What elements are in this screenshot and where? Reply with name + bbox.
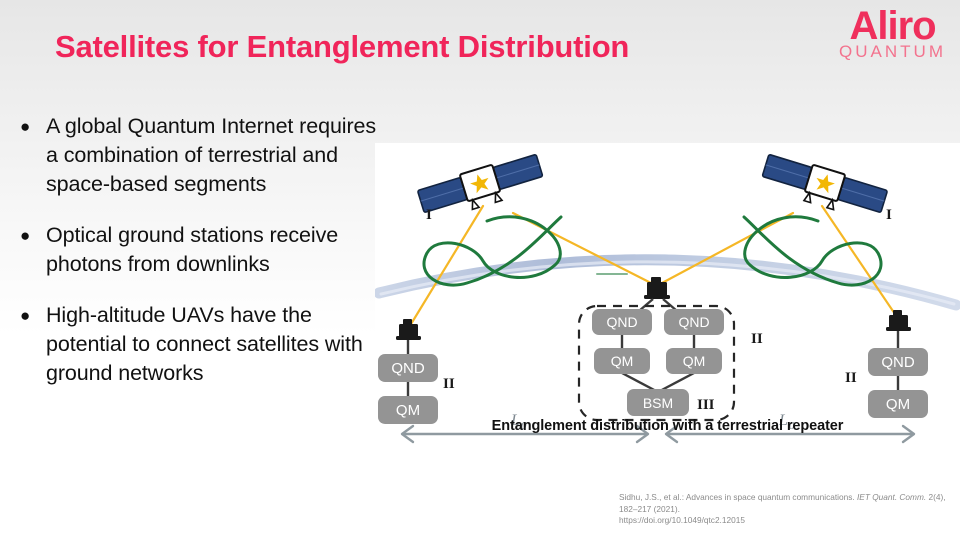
node-right-qm: QM	[868, 390, 928, 418]
satellite-right	[759, 151, 888, 223]
citation-journal-part1: IET	[857, 492, 870, 502]
node-connectors	[408, 299, 898, 398]
bullet-marker-icon: ●	[16, 301, 46, 388]
label-roman-three: III	[697, 397, 715, 413]
bullet-marker-icon: ●	[16, 112, 46, 199]
node-label: QM	[886, 396, 910, 413]
slide-root: Aliro QUANTUM Satellites for Entanglemen…	[0, 0, 960, 540]
ground-telescope-left	[396, 319, 421, 340]
node-label: QND	[606, 314, 637, 330]
bullet-text: A global Quantum Internet requires a com…	[46, 112, 391, 199]
entanglement-diagram: QND QM QND QM QND QND	[375, 143, 960, 448]
solar-panel-right	[838, 177, 888, 212]
node-repeater-qnd-left: QND	[592, 309, 652, 335]
node-label: QND	[391, 360, 425, 377]
citation-block: Sidhu, J.S., et al.: Advances in space q…	[619, 492, 954, 527]
logo-subtitle: QUANTUM	[839, 43, 946, 60]
node-repeater-qm-left: QM	[594, 348, 650, 374]
figure-panel: QND QM QND QM QND QND	[375, 143, 960, 448]
node-label: BSM	[643, 395, 673, 411]
citation-journal-part2: Quant. Comm.	[872, 492, 926, 502]
node-label: QM	[683, 353, 706, 369]
label-roman-two-center: II	[751, 331, 763, 347]
label-roman-one-right: I	[886, 207, 892, 223]
solar-panel-right	[493, 154, 543, 189]
node-label: QND	[678, 314, 709, 330]
aliro-logo: Aliro QUANTUM	[839, 6, 946, 60]
list-item: ● Optical ground stations receive photon…	[16, 221, 391, 279]
node-repeater-qnd-right: QND	[664, 309, 724, 335]
logo-wordmark: Aliro	[839, 6, 946, 46]
list-item: ● High-altitude UAVs have the potential …	[16, 301, 391, 388]
list-item: ● A global Quantum Internet requires a c…	[16, 112, 391, 199]
citation-doi-link[interactable]: https://doi.org/10.1049/qtc2.12015	[619, 515, 745, 525]
ground-telescope-right	[886, 310, 911, 331]
label-roman-two-right: II	[845, 370, 857, 386]
slide-title: Satellites for Entanglement Distribution	[55, 29, 629, 65]
bullet-text: High-altitude UAVs have the potential to…	[46, 301, 391, 388]
node-label: QM	[396, 402, 420, 419]
solar-panel-left	[762, 154, 812, 189]
citation-line1-text: Sidhu, J.S., et al.: Advances in space q…	[619, 492, 857, 502]
bullet-text: Optical ground stations receive photons …	[46, 221, 391, 279]
node-label: QND	[881, 354, 915, 371]
label-roman-one-left: I	[426, 207, 432, 223]
node-repeater-bsm: BSM	[627, 389, 689, 416]
node-right-qnd: QND	[868, 348, 928, 376]
node-left-qnd: QND	[378, 354, 438, 382]
bullet-list: ● A global Quantum Internet requires a c…	[16, 112, 391, 410]
node-repeater-qm-right: QM	[666, 348, 722, 374]
node-label: QM	[611, 353, 634, 369]
figure-caption: Entanglement distribution with a terrest…	[375, 418, 960, 434]
label-roman-two-left: II	[443, 376, 455, 392]
satellite-left	[417, 151, 546, 223]
bullet-marker-icon: ●	[16, 221, 46, 279]
